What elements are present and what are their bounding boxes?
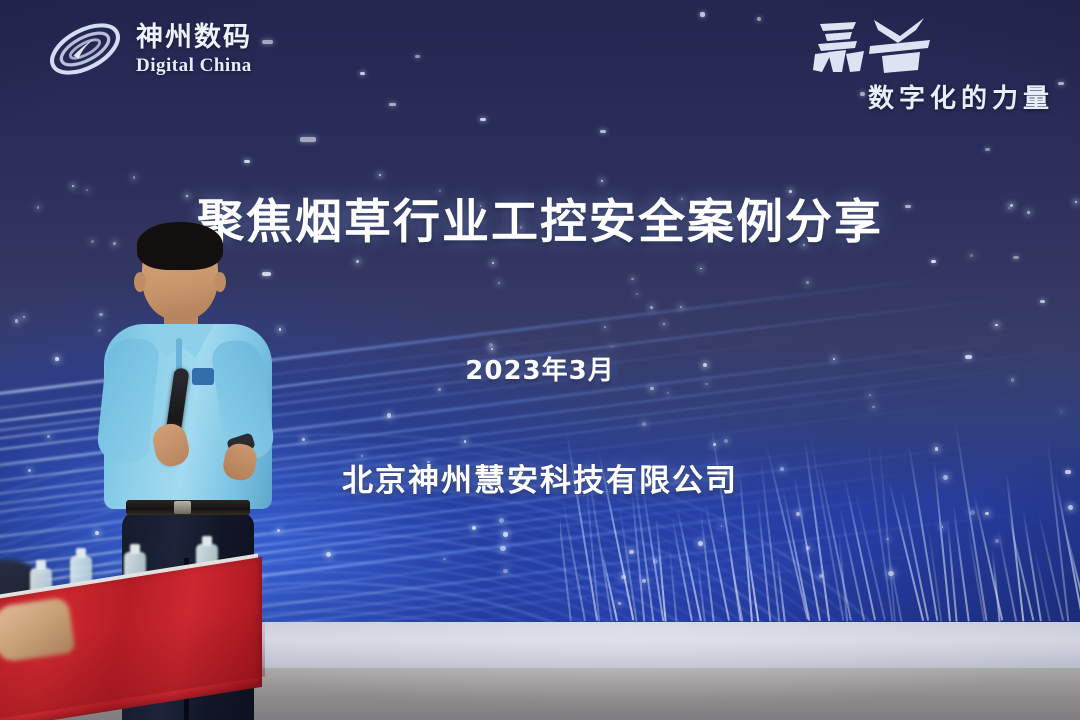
attendee-arm xyxy=(0,597,76,663)
brand-name-en: Digital China xyxy=(136,56,252,75)
event-logo: 数字化的力量 xyxy=(790,16,1058,116)
swirl-mark-icon xyxy=(44,18,126,80)
shirt-logo-badge xyxy=(192,368,214,385)
speaker-ear-left xyxy=(134,272,146,292)
speaker-ear-right xyxy=(214,272,226,292)
digital-china-logo: 神州数码 Digital China xyxy=(44,18,252,80)
event-tagline: 数字化的力量 xyxy=(868,78,1054,115)
conference-stage-photo: 神州数码 Digital China 数字化的力量 xyxy=(0,0,1080,720)
calligraphy-juhe-icon xyxy=(812,16,962,78)
belt-buckle xyxy=(174,501,191,514)
vertical-light-fibers xyxy=(560,412,1080,622)
speaker-hair xyxy=(137,222,223,270)
brand-name-cn: 神州数码 xyxy=(136,24,252,51)
